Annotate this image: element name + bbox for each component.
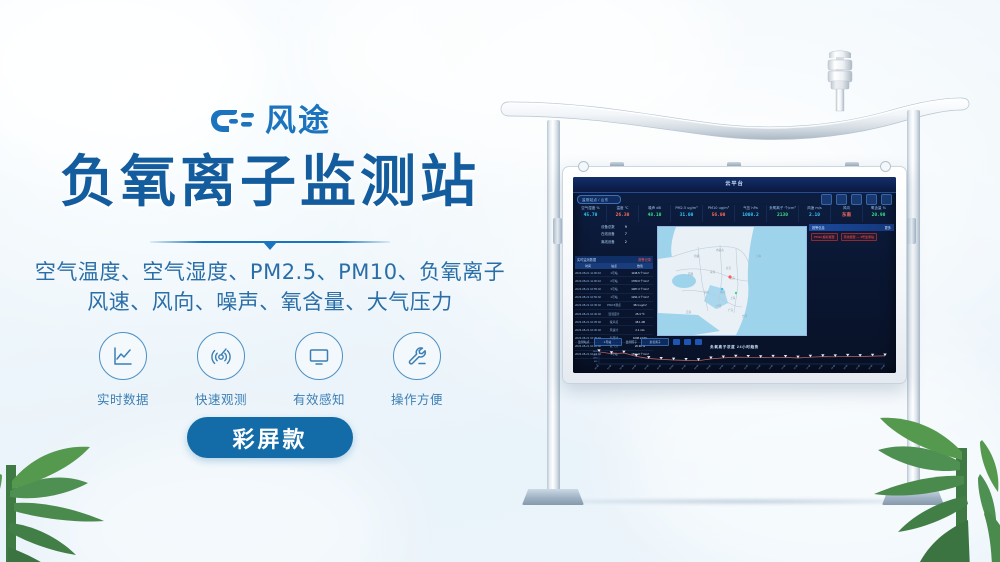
alarm-panel-title: 报警信息 xyxy=(812,225,825,230)
metric-label: 温度 ℃ xyxy=(607,205,638,212)
table-cell: 2023-08-21 10:55:02 xyxy=(575,287,601,291)
table-cell: 1783.0 个/cm³ xyxy=(627,279,653,283)
svg-text:上海: 上海 xyxy=(730,296,736,300)
product-illustration: 云平台 监测站点 / 山东 空气湿度 %45.70温度 ℃26.30噪声 dB4… xyxy=(500,0,1000,562)
alarm-item[interactable]: PM10 超标报警 xyxy=(811,233,838,241)
table-cell: 温湿度计 xyxy=(601,312,627,316)
svg-text:06:00: 06:00 xyxy=(669,364,675,370)
svg-text:625: 625 xyxy=(594,361,598,363)
table-cell: 2.1 m/s xyxy=(627,328,653,332)
table-cell: 2号站 xyxy=(601,279,627,283)
metric-value: 45.70 xyxy=(575,212,606,220)
svg-text:1250: 1250 xyxy=(593,358,599,360)
svg-text:01:00: 01:00 xyxy=(607,364,613,370)
table-row[interactable]: 2023-08-21 10:30:02风速计2.1 m/s xyxy=(575,326,653,334)
svg-text:2500: 2500 xyxy=(593,351,599,353)
metric-label: PM2.5 ug/m³ xyxy=(671,205,702,212)
metric-card[interactable]: 噪声 dB48.10 xyxy=(639,205,671,222)
svg-text:13:00: 13:00 xyxy=(756,364,762,370)
metric-value: 东南 xyxy=(831,212,862,220)
metric-card[interactable]: 气压 hPa1008.2 xyxy=(735,205,767,222)
table-row[interactable]: 2023-08-21 10:50:021号站1291.4 个/cm³ xyxy=(575,294,653,302)
feature-list: 实时数据 快速观测 xyxy=(92,332,448,408)
table-cell: 噪声点 xyxy=(601,320,627,324)
svg-text:22:00: 22:00 xyxy=(868,364,874,370)
grid-icon[interactable] xyxy=(821,194,832,205)
device-stat: 离线设备2 xyxy=(575,239,653,246)
table-row[interactable]: 2023-08-21 11:00:022号站1783.0 个/cm³ xyxy=(575,277,653,285)
table-cell: 2023-08-21 10:30:02 xyxy=(575,328,601,332)
chart-factor-label: 监测因子 xyxy=(626,340,638,344)
svg-text:10:00: 10:00 xyxy=(719,364,725,370)
table-cell: 1号站 xyxy=(601,271,627,275)
metric-value: 20.90 xyxy=(863,212,894,220)
mount-tab xyxy=(610,162,624,166)
hero-text-column: 风途 负氧离子监测站 空气温度、空气湿度、PM2.5、PM10、负氧离子 风速、… xyxy=(0,0,540,562)
metric-card[interactable]: 风速 m/s2.10 xyxy=(799,205,831,222)
metric-label: 氧含量 % xyxy=(863,205,894,212)
device-stat: 设备总数9 xyxy=(575,224,653,231)
support-post-left xyxy=(547,120,560,498)
svg-text:北京: 北京 xyxy=(726,266,732,270)
line-chart-icon xyxy=(99,332,147,380)
user-icon[interactable] xyxy=(881,194,892,205)
table-cell: 38.1 ug/m³ xyxy=(627,303,653,307)
dashboard-header: 云平台 xyxy=(573,177,896,193)
svg-text:云南: 云南 xyxy=(686,310,692,314)
svg-text:17:00: 17:00 xyxy=(806,364,812,370)
station-selector-label: 监测站点 / 山东 xyxy=(582,198,608,203)
svg-text:15:00: 15:00 xyxy=(781,364,787,370)
table-title: 实时监测数据 xyxy=(577,257,596,262)
table-cell: 1136.5 个/cm³ xyxy=(627,271,653,275)
hero-banner: 风途 负氧离子监测站 空气温度、空气湿度、PM2.5、PM10、负氧离子 风速、… xyxy=(0,0,1000,562)
metric-value: 2.10 xyxy=(799,212,830,220)
subtitle-line-1: 空气温度、空气湿度、PM2.5、PM10、负氧离子 xyxy=(20,258,520,288)
feature-label: 有效感知 xyxy=(288,389,350,408)
metric-value: 26.30 xyxy=(607,212,638,220)
table-cell: 2023-08-21 11:00:02 xyxy=(575,279,601,283)
table-cell: 48.1 dB xyxy=(627,320,653,324)
table-cell: PM2.5测点 xyxy=(601,303,627,307)
svg-text:07:00: 07:00 xyxy=(682,364,688,370)
table-cell: 2023-08-21 10:50:02 xyxy=(575,295,601,299)
svg-text:03:00: 03:00 xyxy=(632,364,638,370)
metric-card[interactable]: 负氧离子 个/cm³2130 xyxy=(767,205,799,222)
week-button[interactable] xyxy=(684,339,691,345)
alarm-panel: 报警信息 更多 PM10 超标报警离线报警 — 3号监测站 xyxy=(809,224,894,334)
map-icon[interactable] xyxy=(851,194,862,205)
svg-text:四川: 四川 xyxy=(704,290,710,294)
support-post-right xyxy=(907,110,920,498)
feature-label: 操作方便 xyxy=(386,389,448,408)
feature-label: 实时数据 xyxy=(92,389,154,408)
table-cell: 3号站 xyxy=(601,287,627,291)
title-divider xyxy=(150,238,390,248)
svg-text:青海: 青海 xyxy=(710,270,716,274)
dashboard-header-icons[interactable] xyxy=(821,194,892,205)
brand-logo: 风途 xyxy=(209,103,331,139)
table-cell: 1087.2 个/cm³ xyxy=(627,287,653,291)
month-button[interactable] xyxy=(695,339,702,345)
svg-text:1875: 1875 xyxy=(593,354,599,356)
metric-label: 空气湿度 % xyxy=(575,205,606,212)
feature-item-easy-operation[interactable]: 操作方便 xyxy=(386,332,448,408)
canopy-roof xyxy=(500,86,970,152)
svg-text:16:00: 16:00 xyxy=(794,364,800,370)
hero-subtitle: 空气温度、空气湿度、PM2.5、PM10、负氧离子 风速、风向、噪声、氧含量、大… xyxy=(20,258,520,318)
svg-text:台湾: 台湾 xyxy=(742,314,748,318)
metric-label: 气压 hPa xyxy=(735,205,766,212)
alarm-list: PM10 超标报警离线报警 — 3号监测站 xyxy=(809,233,894,241)
metric-card[interactable]: PM10 ug/m³56.00 xyxy=(703,205,735,222)
svg-text:21:00: 21:00 xyxy=(856,364,862,370)
chart-factor-select[interactable]: 负氧离子 xyxy=(641,338,669,346)
radar-signal-icon xyxy=(197,332,245,380)
svg-text:08:00: 08:00 xyxy=(694,364,700,370)
svg-text:20:00: 20:00 xyxy=(843,364,849,370)
china-map[interactable]: 新疆内蒙古 西藏青海 北京山东 四川湖北 上海广西 广东台湾 云南日本 xyxy=(657,226,807,336)
chart-icon[interactable] xyxy=(836,194,847,205)
dashboard-title: 云平台 xyxy=(725,180,744,187)
alarm-record-link[interactable]: 报警记录 xyxy=(638,257,651,262)
table-cell: 风速计 xyxy=(601,328,627,332)
table-cell: 1号站 xyxy=(601,295,627,299)
feature-item-effective-sensing[interactable]: 有效感知 xyxy=(288,332,350,408)
table-header-bar: 实时监测数据 报警记录 xyxy=(575,256,653,263)
svg-text:04:00: 04:00 xyxy=(645,364,651,370)
svg-text:18:00: 18:00 xyxy=(819,364,825,370)
mount-ring-left xyxy=(578,161,589,172)
feature-item-fast-observation[interactable]: 快速观测 xyxy=(190,332,252,408)
svg-text:新疆: 新疆 xyxy=(694,254,700,258)
table-cell: 1291.4 个/cm³ xyxy=(627,295,653,299)
table-column-header: 站点 xyxy=(601,263,627,269)
mount-ring-right xyxy=(880,161,891,172)
base-plate-left xyxy=(522,489,584,505)
svg-text:西藏: 西藏 xyxy=(688,272,694,276)
svg-text:09:00: 09:00 xyxy=(707,364,713,370)
metric-value: 48.10 xyxy=(639,212,670,220)
brand-logo-text: 风途 xyxy=(265,106,331,137)
alarm-panel-header: 报警信息 更多 xyxy=(809,224,894,231)
device-stat: 在线设备7 xyxy=(575,231,653,238)
metric-value: 1008.2 xyxy=(735,212,766,220)
metric-card[interactable]: 氧含量 %20.90 xyxy=(863,205,894,222)
table-column-header: 数值 xyxy=(627,263,653,269)
svg-text:11:00: 11:00 xyxy=(732,364,738,370)
left-stats-panel: 设备总数9在线设备7离线设备2 实时监测数据 报警记录 时间站点数值 2023-… xyxy=(575,224,653,334)
metric-value: 2130 xyxy=(767,212,798,220)
svg-text:广东: 广东 xyxy=(728,308,734,312)
metric-label: 负氧离子 个/cm³ xyxy=(767,205,798,212)
metric-label: PM10 ug/m³ xyxy=(703,205,734,212)
table-row[interactable]: 2023-08-21 10:40:02温湿度计26.3 ℃ xyxy=(575,310,653,318)
cta-label: 彩屏款 xyxy=(232,422,307,454)
svg-text:广西: 广西 xyxy=(716,304,722,308)
table-cell: 2023-08-21 10:40:02 xyxy=(575,312,601,316)
mount-tab xyxy=(727,162,741,166)
ultrasonic-weather-sensor xyxy=(820,48,860,114)
alarm-more-link[interactable]: 更多 xyxy=(885,225,891,230)
feature-item-realtime-data[interactable]: 实时数据 xyxy=(92,332,154,408)
svg-text:湖北: 湖北 xyxy=(720,290,726,294)
table-cell: 2023-08-21 10:35:02 xyxy=(575,320,601,324)
metric-card-row: 空气湿度 %45.70温度 ℃26.30噪声 dB48.10PM2.5 ug/m… xyxy=(575,205,894,222)
mount-tab xyxy=(845,162,859,166)
svg-text:19:00: 19:00 xyxy=(831,364,837,370)
side-bracket-right xyxy=(907,218,916,244)
table-cell: 26.3 ℃ xyxy=(627,312,653,316)
fengtu-g-mark-icon xyxy=(209,103,256,139)
trend-line-chart[interactable]: 250018751250625000:0001:0002:0003:0004:0… xyxy=(589,349,889,371)
metric-label: 风向 xyxy=(831,205,862,212)
table-column-header: 时间 xyxy=(575,263,601,269)
alert-icon[interactable] xyxy=(866,194,877,205)
page-title: 负氧离子监测站 xyxy=(10,155,530,211)
chart-station-label: 监测站点 xyxy=(578,340,590,344)
metric-card[interactable]: PM2.5 ug/m³31.00 xyxy=(671,205,703,222)
metric-value: 31.00 xyxy=(671,212,702,220)
feature-label: 快速观测 xyxy=(190,389,252,408)
chart-station-select[interactable]: 1号站 xyxy=(594,338,622,346)
station-selector[interactable]: 监测站点 / 山东 xyxy=(577,195,621,204)
metric-label: 风速 m/s xyxy=(799,205,830,212)
table-cell: 2023-08-21 11:00:02 xyxy=(575,271,601,275)
day-button[interactable] xyxy=(673,339,680,345)
svg-text:02:00: 02:00 xyxy=(620,364,626,370)
table-row[interactable]: 2023-08-21 10:55:023号站1087.2 个/cm³ xyxy=(575,285,653,293)
svg-text:内蒙古: 内蒙古 xyxy=(716,248,724,252)
base-plate-right xyxy=(882,489,944,505)
metric-card[interactable]: 温度 ℃26.30 xyxy=(607,205,639,222)
svg-text:14:00: 14:00 xyxy=(769,364,775,370)
alarm-item[interactable]: 离线报警 — 3号监测站 xyxy=(841,233,877,241)
table-row[interactable]: 2023-08-21 11:00:021号站1136.5 个/cm³ xyxy=(575,269,653,277)
device-stats-list: 设备总数9在线设备7离线设备2 xyxy=(575,224,653,246)
metric-label: 噪声 dB xyxy=(639,205,670,212)
dashboard-screen[interactable]: 云平台 监测站点 / 山东 空气湿度 %45.70温度 ℃26.30噪声 dB4… xyxy=(573,177,896,373)
table-row[interactable]: 2023-08-21 10:35:02噪声点48.1 dB xyxy=(575,318,653,326)
metric-value: 56.00 xyxy=(703,212,734,220)
table-cell: 2023-08-21 10:45:02 xyxy=(575,303,601,307)
svg-text:23:00: 23:00 xyxy=(881,364,887,370)
svg-text:05:00: 05:00 xyxy=(657,364,663,370)
color-screen-model-button[interactable]: 彩屏款 xyxy=(187,417,353,458)
metric-card[interactable]: 空气湿度 %45.70 xyxy=(575,205,607,222)
wrench-icon xyxy=(393,332,441,380)
svg-text:日本: 日本 xyxy=(756,254,762,258)
side-bracket-left xyxy=(553,218,562,244)
svg-text:12:00: 12:00 xyxy=(744,364,750,370)
table-row[interactable]: 2023-08-21 10:45:02PM2.5测点38.1 ug/m³ xyxy=(575,302,653,310)
metric-card[interactable]: 风向东南 xyxy=(831,205,863,222)
table-column-headers: 时间站点数值 xyxy=(575,263,653,269)
subtitle-line-2: 风速、风向、噪声、氧含量、大气压力 xyxy=(20,288,520,318)
monitor-screen-icon xyxy=(295,332,343,380)
